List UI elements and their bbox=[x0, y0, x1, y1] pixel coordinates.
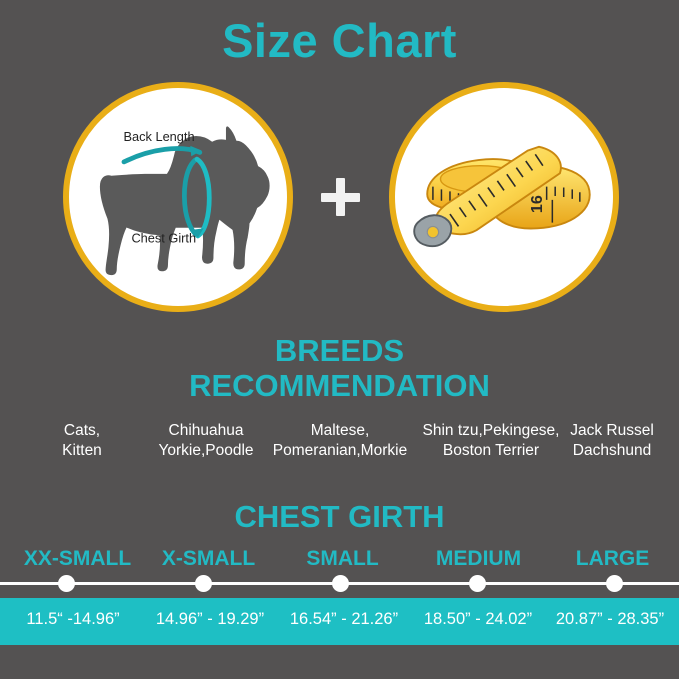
size-chart-page: Size Chart bbox=[0, 0, 679, 679]
axis-dot-small bbox=[332, 575, 349, 592]
breed-line-1: Jack Russel bbox=[534, 421, 679, 441]
axis-dot-large bbox=[606, 575, 623, 592]
size-label-small: SMALL bbox=[265, 547, 420, 571]
illustration-row: Back Length Chest Girth bbox=[0, 82, 679, 314]
size-label-medium: MEDIUM bbox=[401, 547, 556, 571]
size-label-x-small: X-SMALL bbox=[131, 547, 286, 571]
page-title: Size Chart bbox=[0, 14, 679, 68]
chest-girth-label: Chest Girth bbox=[131, 230, 196, 245]
range-x-small: 14.96” - 19.29” bbox=[134, 610, 286, 629]
chest-girth-range-bar: 11.5“ -14.96” 14.96” - 19.29” 16.54” - 2… bbox=[0, 598, 679, 645]
measuring-tape-icon: 16 bbox=[395, 88, 613, 306]
size-label-row: XX-SMALL X-SMALL SMALL MEDIUM LARGE bbox=[0, 547, 679, 575]
size-label-large: LARGE bbox=[535, 547, 679, 571]
axis-dot-xx-small bbox=[58, 575, 75, 592]
breed-line-2: Dachshund bbox=[534, 441, 679, 461]
range-large: 20.87” - 28.35” bbox=[534, 610, 679, 629]
plus-icon bbox=[319, 176, 361, 218]
breeds-heading: BREEDS RECOMMENDATION bbox=[0, 333, 679, 403]
range-xx-small: 11.5“ -14.96” bbox=[0, 610, 146, 629]
breed-cell-large: Jack Russel Dachshund bbox=[534, 421, 679, 462]
breeds-heading-line2: RECOMMENDATION bbox=[0, 368, 679, 403]
breeds-heading-line1: BREEDS bbox=[275, 333, 404, 368]
range-medium: 18.50” - 24.02” bbox=[402, 610, 554, 629]
breeds-row: Cats, Kitten Chihuahua Yorkie,Poodle Mal… bbox=[0, 421, 679, 469]
dog-measurement-circle: Back Length Chest Girth bbox=[63, 82, 293, 312]
range-small: 16.54” - 21.26” bbox=[268, 610, 420, 629]
axis-dot-x-small bbox=[195, 575, 212, 592]
axis-dot-medium bbox=[469, 575, 486, 592]
measuring-tape-circle: 16 bbox=[389, 82, 619, 312]
chest-girth-heading: CHEST GIRTH bbox=[0, 499, 679, 535]
back-length-label: Back Length bbox=[124, 129, 195, 144]
tape-number: 16 bbox=[528, 195, 546, 213]
dog-diagram-icon: Back Length Chest Girth bbox=[69, 88, 287, 306]
